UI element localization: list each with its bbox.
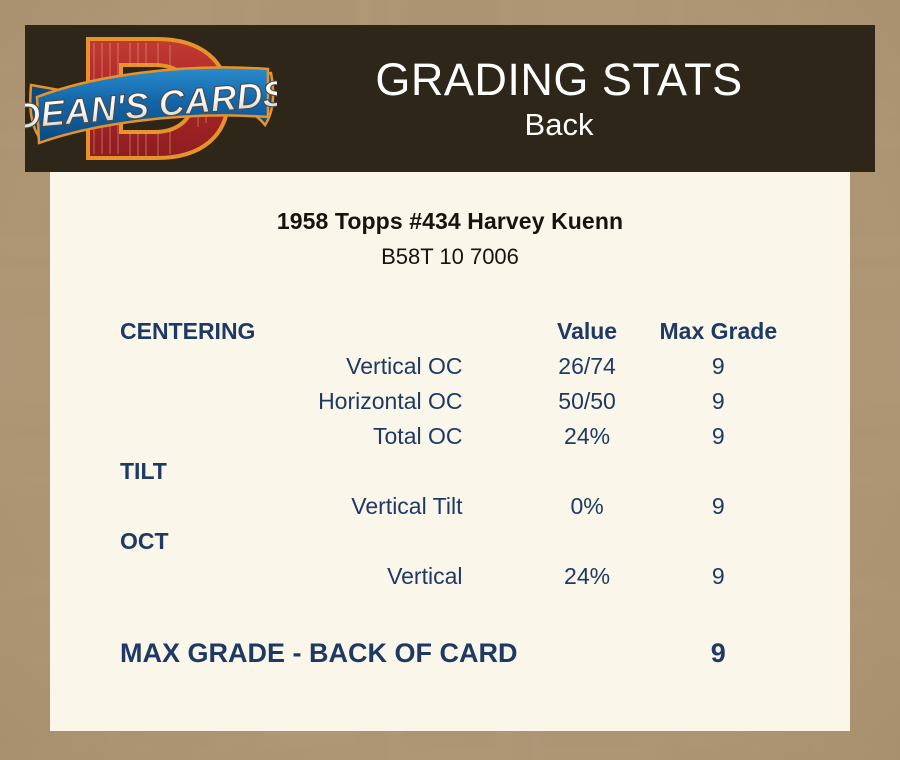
row-value: 26/74 — [518, 349, 657, 384]
row-max-grade: 9 — [657, 384, 780, 419]
section-header-oct: OCT — [120, 524, 518, 559]
max-grade-value — [518, 620, 657, 671]
section-header-spacer — [518, 524, 657, 559]
row-value: 24% — [518, 419, 657, 454]
max-grade-result: 9 — [657, 620, 780, 671]
section-header-row: OCT — [120, 524, 780, 559]
section-header-tilt: TILT — [120, 454, 518, 489]
grading-stats-panel: 1958 Topps #434 Harvey Kuenn B58T 10 700… — [50, 172, 850, 731]
column-header-max-grade: Max Grade — [657, 314, 780, 349]
row-label: Vertical OC — [120, 349, 518, 384]
max-grade-label: MAX GRADE - BACK OF CARD — [120, 620, 518, 671]
header-title-block: GRADING STATS Back — [277, 57, 875, 140]
column-header-value: Value — [518, 314, 657, 349]
section-header-spacer — [518, 454, 657, 489]
row-label: Total OC — [120, 419, 518, 454]
row-value: 24% — [518, 559, 657, 594]
row-value: 50/50 — [518, 384, 657, 419]
card-serial-number: B58T 10 7006 — [50, 244, 850, 270]
table-header-row: CENTERING Value Max Grade — [120, 314, 780, 349]
row-value: 0% — [518, 489, 657, 524]
page-title: GRADING STATS — [277, 57, 841, 102]
section-header-centering: CENTERING — [120, 314, 518, 349]
deans-cards-logo-icon: DEAN'S CARDS — [25, 25, 277, 172]
section-header-row: TILT — [120, 454, 780, 489]
max-grade-total-row: MAX GRADE - BACK OF CARD 9 — [120, 620, 780, 671]
section-header-spacer — [657, 524, 780, 559]
row-max-grade: 9 — [657, 559, 780, 594]
deans-cards-logo[interactable]: DEAN'S CARDS — [25, 25, 277, 172]
table-spacer — [120, 594, 780, 620]
table-row: Total OC 24% 9 — [120, 419, 780, 454]
row-label: Vertical — [120, 559, 518, 594]
row-max-grade: 9 — [657, 419, 780, 454]
table-row: Vertical 24% 9 — [120, 559, 780, 594]
row-max-grade: 9 — [657, 489, 780, 524]
card-title: 1958 Topps #434 Harvey Kuenn — [50, 208, 850, 235]
table-row: Horizontal OC 50/50 9 — [120, 384, 780, 419]
row-max-grade: 9 — [657, 349, 780, 384]
row-label: Vertical Tilt — [120, 489, 518, 524]
row-label: Horizontal OC — [120, 384, 518, 419]
page-subtitle: Back — [277, 109, 841, 140]
table-row: Vertical OC 26/74 9 — [120, 349, 780, 384]
section-header-spacer — [657, 454, 780, 489]
grading-stats-table: CENTERING Value Max Grade Vertical OC 26… — [120, 314, 780, 671]
header-bar: DEAN'S CARDS GRADING STATS Back — [25, 25, 875, 172]
table-row: Vertical Tilt 0% 9 — [120, 489, 780, 524]
